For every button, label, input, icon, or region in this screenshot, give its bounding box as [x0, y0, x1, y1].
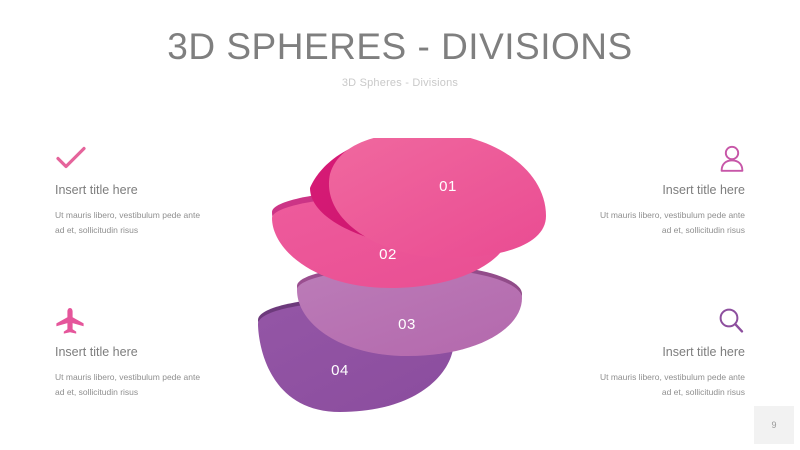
info-block-bottom-right[interactable]: Insert title here Ut mauris libero, vest…	[595, 307, 745, 400]
magnifier-icon	[595, 307, 745, 337]
page-number: 9	[754, 406, 794, 444]
info-block-top-right[interactable]: Insert title here Ut mauris libero, vest…	[595, 145, 745, 238]
check-icon	[55, 145, 205, 175]
sphere-svg: 04 03 02 01	[250, 138, 560, 413]
slice-label-04: 04	[331, 362, 349, 379]
info-block-title: Insert title here	[55, 345, 205, 360]
page-title: 3D SPHERES - DIVISIONS	[0, 26, 800, 68]
page-number-value: 9	[771, 420, 776, 430]
info-block-body: Ut mauris libero, vestibulum pede ante a…	[595, 208, 745, 238]
page-subtitle: 3D Spheres - Divisions	[0, 77, 800, 89]
airplane-icon	[55, 307, 205, 337]
info-block-body: Ut mauris libero, vestibulum pede ante a…	[55, 208, 205, 238]
info-block-body: Ut mauris libero, vestibulum pede ante a…	[55, 370, 205, 400]
user-icon	[595, 145, 745, 175]
info-block-title: Insert title here	[595, 183, 745, 198]
slice-label-03: 03	[398, 316, 416, 333]
sphere-diagram: 04 03 02 01	[250, 138, 560, 413]
info-block-top-left[interactable]: Insert title here Ut mauris libero, vest…	[55, 145, 205, 238]
info-block-bottom-left[interactable]: Insert title here Ut mauris libero, vest…	[55, 307, 205, 400]
info-block-title: Insert title here	[595, 345, 745, 360]
slice-label-01: 01	[439, 178, 457, 195]
info-block-title: Insert title here	[55, 183, 205, 198]
info-block-body: Ut mauris libero, vestibulum pede ante a…	[595, 370, 745, 400]
